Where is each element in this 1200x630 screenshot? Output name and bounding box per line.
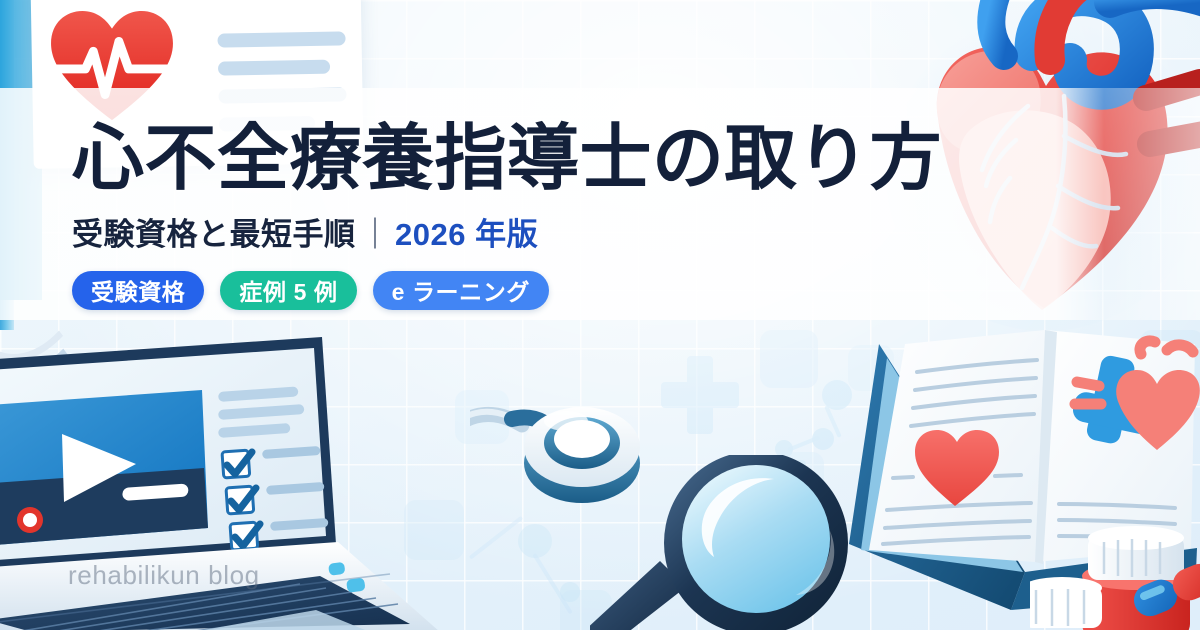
subtitle-year: 2026 年版 (395, 217, 538, 252)
document-text-line (217, 31, 345, 47)
headline-block: 心不全療養指導士の取り方 受験資格と最短手順｜2026 年版 受験資格 症例 5… (72, 122, 942, 310)
badge-elearning[interactable]: e ラーニング (373, 271, 549, 310)
hero-banner: 心不全療養指導士の取り方 受験資格と最短手順｜2026 年版 受験資格 症例 5… (0, 0, 1200, 630)
document-text-line (218, 60, 330, 76)
badge-list: 受験資格 症例 5 例 e ラーニング (72, 271, 942, 310)
capsule-icon (1130, 560, 1200, 620)
watermark: rehabilikun blog (68, 560, 260, 591)
badge-exam-eligibility[interactable]: 受験資格 (72, 271, 204, 310)
subtitle-separator: ｜ (356, 217, 396, 252)
page-subtitle: 受験資格と最短手順｜2026 年版 (72, 209, 942, 254)
badge-case-count[interactable]: 症例 5 例 (220, 271, 356, 310)
page-title: 心不全療養指導士の取り方 (72, 122, 942, 197)
subtitle-lead: 受験資格と最短手順 (72, 217, 356, 252)
